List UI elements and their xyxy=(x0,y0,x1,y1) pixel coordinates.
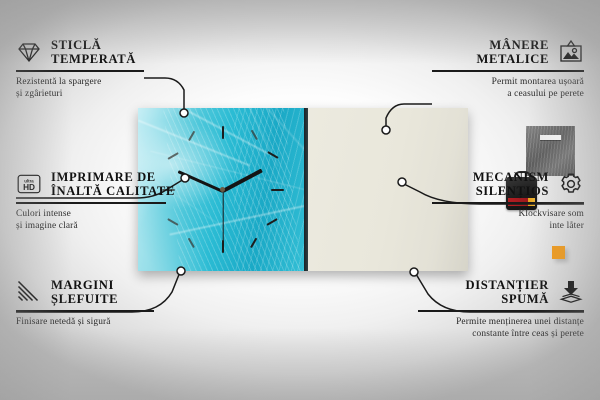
clock-tick-3 xyxy=(271,189,284,191)
feature-divider xyxy=(16,70,144,72)
feature-header: ultra HD IMPRIMARE DE ÎNALTĂ CALITATE xyxy=(16,170,176,198)
feature-title: MECANISM SILENȚIOS xyxy=(473,170,549,198)
arrow-down-layers-icon xyxy=(558,279,584,305)
foam-spacer-pad xyxy=(552,246,565,259)
clock-second-hand xyxy=(222,191,223,245)
feature-divider xyxy=(16,310,154,312)
feature-divider xyxy=(432,70,584,72)
feature-subtitle: Rezistentă la spargere și zgârieturi xyxy=(16,76,166,100)
clock-center-pin xyxy=(220,187,225,192)
hanger-slot xyxy=(540,135,561,140)
feature-header: MECANISM SILENȚIOS xyxy=(432,170,584,198)
ultra-hd-icon: ultra HD xyxy=(16,171,42,197)
infographic-canvas: STICLĂ TEMPERATĂ Rezistentă la spargere … xyxy=(0,0,600,400)
feature-subtitle: Permite menținerea unei distanțe constan… xyxy=(418,316,584,340)
feature-header: DISTANȚIER SPUMĂ xyxy=(418,278,584,306)
feature-divider xyxy=(16,202,166,204)
picture-frame-icon xyxy=(558,39,584,65)
feature-metal-hooks: MÂNERE METALICE Permit montarea ușoară a… xyxy=(432,38,584,100)
feature-title: MÂNERE METALICE xyxy=(477,38,549,66)
feature-subtitle: Permit montarea ușoară a ceasului pe per… xyxy=(432,76,584,100)
svg-text:HD: HD xyxy=(23,183,35,192)
feature-silent-mechanism: MECANISM SILENȚIOS Klockvisare som inte … xyxy=(432,170,584,232)
feature-title: MARGINI ȘLEFUITE xyxy=(51,278,118,306)
diamond-icon xyxy=(16,39,42,65)
feature-title: IMPRIMARE DE ÎNALTĂ CALITATE xyxy=(51,170,175,198)
feature-subtitle: Finisare netedă și sigură xyxy=(16,316,166,328)
feature-divider xyxy=(418,310,584,312)
product-image xyxy=(138,108,468,271)
feature-subtitle: Klockvisare som inte låter xyxy=(432,208,584,232)
feature-header: MARGINI ȘLEFUITE xyxy=(16,278,166,306)
feature-polished-edges: MARGINI ȘLEFUITE Finisare netedă și sigu… xyxy=(16,278,166,328)
feature-subtitle: Culori intense și imagine clară xyxy=(16,208,176,232)
feature-title: STICLĂ TEMPERATĂ xyxy=(51,38,136,66)
feature-high-quality-print: ultra HD IMPRIMARE DE ÎNALTĂ CALITATE Cu… xyxy=(16,170,176,232)
feature-title: DISTANȚIER SPUMĂ xyxy=(466,278,549,306)
feature-foam-spacer: DISTANȚIER SPUMĂ Permite menținerea unei… xyxy=(418,278,584,340)
feature-header: STICLĂ TEMPERATĂ xyxy=(16,38,166,66)
feature-header: MÂNERE METALICE xyxy=(432,38,584,66)
clock-tick-12 xyxy=(222,126,224,139)
gear-icon xyxy=(558,171,584,197)
feature-tempered-glass: STICLĂ TEMPERATĂ Rezistentă la spargere … xyxy=(16,38,166,100)
metal-hanger-plate xyxy=(526,126,575,176)
feature-divider xyxy=(432,202,584,204)
diagonal-lines-icon xyxy=(16,279,42,305)
